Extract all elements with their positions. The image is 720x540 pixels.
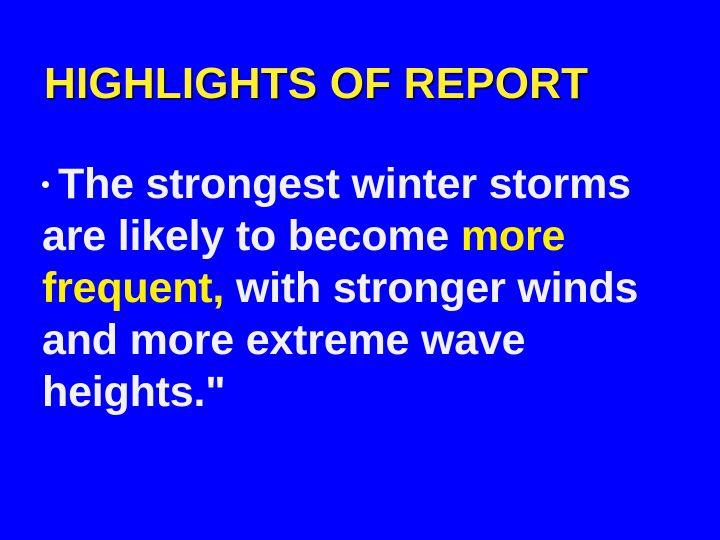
list-item: are likely to become more — [42, 210, 682, 262]
list-item: heights." — [42, 366, 682, 418]
presentation-slide: HIGHLIGHTS OF REPORT The strongest winte… — [0, 0, 720, 540]
highlighted-text: frequent, — [42, 264, 224, 312]
body-text: The strongest winter storms — [58, 160, 631, 208]
bullet-point-icon — [42, 181, 49, 188]
list-item: frequent, with stronger winds — [42, 262, 682, 314]
body-text: with stronger winds — [224, 264, 638, 312]
bullet-list: The strongest winter stormsare likely to… — [42, 158, 682, 418]
list-item: The strongest winter storms — [42, 158, 682, 210]
body-text: are likely to become — [42, 212, 461, 260]
highlighted-text: more — [461, 212, 565, 260]
page-title: HIGHLIGHTS OF REPORT — [44, 62, 588, 106]
list-item: and more extreme wave — [42, 314, 682, 366]
body-text: and more extreme wave — [42, 316, 525, 364]
body-text: heights." — [42, 368, 225, 416]
